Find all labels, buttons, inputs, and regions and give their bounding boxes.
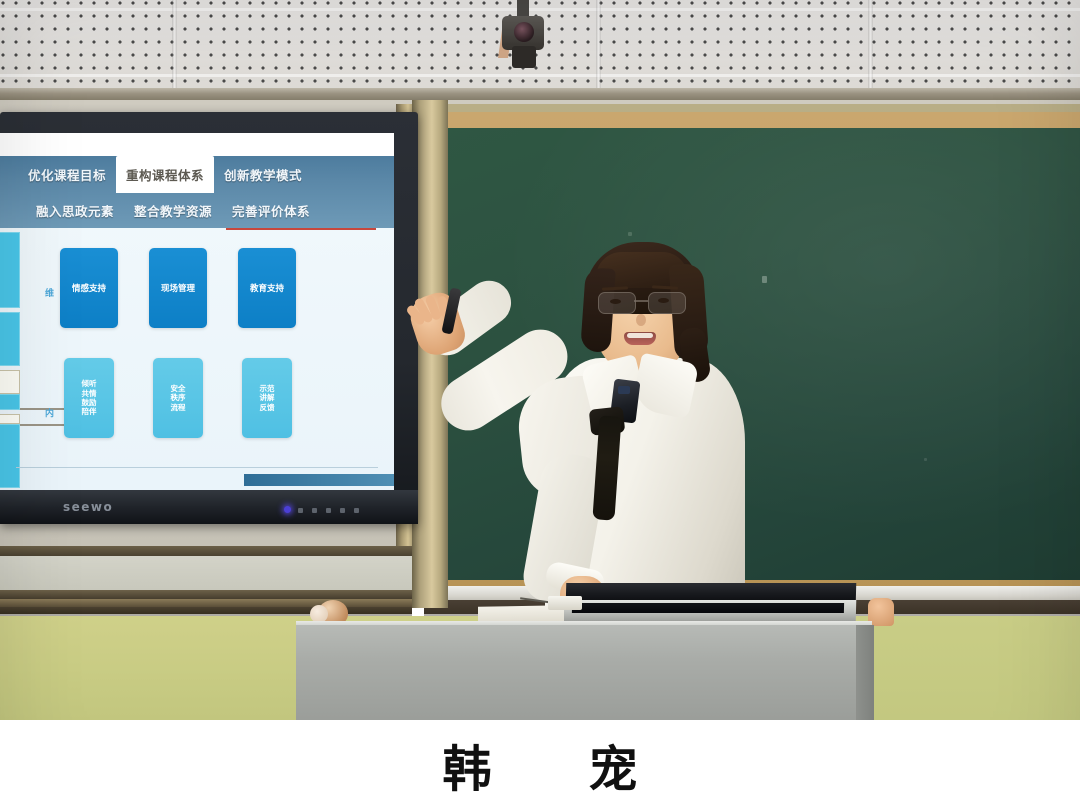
teacher-figure bbox=[400, 240, 800, 640]
slide-subcard-line: 秩序 bbox=[171, 393, 186, 402]
slide-row-label-1: 维 bbox=[45, 286, 54, 299]
lower-wall-right bbox=[860, 616, 1080, 720]
slide-subcard-2[interactable]: 安全 秩序 流程 bbox=[153, 358, 203, 438]
slide-body: 维 内 情感支持 现场管理 教育支持 bbox=[0, 228, 394, 490]
slide-subcard-line: 共情 bbox=[82, 389, 97, 398]
slide-tabrow-1: 优化课程目标 重构课程体系 创新教学模式 bbox=[0, 156, 394, 192]
presentation-slide: 优化课程目标 重构课程体系 创新教学模式 融入思政元素 整合教学资源 完善评价体… bbox=[0, 133, 394, 490]
smartboard-brand-logo: seewo bbox=[63, 500, 113, 514]
slide-divider bbox=[16, 467, 378, 468]
microphone-indicator bbox=[618, 386, 630, 394]
slide-tab-restructure-system[interactable]: 重构课程体系 bbox=[116, 156, 214, 193]
slide-tab-ideological-elements[interactable]: 融入思政元素 bbox=[26, 196, 124, 225]
caption-name: 韩 宠 bbox=[0, 720, 1080, 810]
slide-tab-optimize-goals[interactable]: 优化课程目标 bbox=[18, 160, 116, 189]
slide-subcard-1[interactable]: 倾听 共情 鼓励 陪伴 bbox=[64, 358, 114, 438]
wall-trim-b bbox=[0, 590, 412, 599]
slide-card-label: 情感支持 bbox=[72, 283, 106, 294]
slide-subcard-line: 陪伴 bbox=[82, 407, 97, 416]
slide-subcard-line: 安全 bbox=[171, 384, 186, 393]
slide-subcard-3[interactable]: 示范 讲解 反馈 bbox=[242, 358, 292, 438]
teacher-eye-right bbox=[658, 298, 669, 303]
smartboard-screen[interactable]: 优化课程目标 重构课程体系 创新教学模式 融入思政元素 整合教学资源 完善评价体… bbox=[0, 133, 394, 490]
slide-subcard-line: 鼓励 bbox=[82, 398, 97, 407]
wall-trim-upper bbox=[0, 546, 412, 556]
slide-subcard-line: 反馈 bbox=[260, 403, 275, 412]
slide-tab-improve-evaluation[interactable]: 完善评价体系 bbox=[222, 196, 320, 225]
slide-tabbar: 优化课程目标 重构课程体系 创新教学模式 融入思政元素 整合教学资源 完善评价体… bbox=[0, 156, 394, 228]
slide-footer-bar bbox=[244, 474, 394, 486]
teacher-eye-left bbox=[610, 299, 621, 304]
slide-card-label: 教育支持 bbox=[250, 283, 284, 294]
teacher-teeth bbox=[627, 333, 653, 338]
slide-side-panel bbox=[0, 228, 20, 490]
wall-mid-band bbox=[0, 556, 412, 590]
slide-card-education-support[interactable]: 教育支持 bbox=[238, 248, 296, 328]
slide-row-label-2: 内 bbox=[45, 406, 54, 419]
slide-card-row-2: 倾听 共情 鼓励 陪伴 安全 秩序 流程 bbox=[64, 358, 292, 438]
ceiling-camera-icon bbox=[500, 0, 546, 70]
slide-subcard-line: 示范 bbox=[260, 384, 275, 393]
podium bbox=[296, 625, 872, 723]
slide-subcard-line: 倾听 bbox=[82, 379, 97, 388]
wall-trim-c bbox=[0, 599, 412, 607]
teacher-nose bbox=[636, 314, 646, 326]
desk-object bbox=[548, 596, 582, 610]
slide-tabrow-2: 融入思政元素 整合教学资源 完善评价体系 bbox=[0, 192, 394, 228]
podium-side-panel bbox=[856, 625, 874, 723]
slide-top-margin bbox=[0, 133, 394, 156]
slide-subcard-line: 讲解 bbox=[260, 393, 275, 402]
slide-tab-innovate-teaching[interactable]: 创新教学模式 bbox=[214, 160, 312, 189]
slide-tab-integrate-resources[interactable]: 整合教学资源 bbox=[124, 196, 222, 225]
smartboard-control-keys[interactable] bbox=[298, 507, 368, 513]
slide-card-site-management[interactable]: 现场管理 bbox=[149, 248, 207, 328]
slide-card-emotional-support[interactable]: 情感支持 bbox=[60, 248, 118, 328]
power-led-icon bbox=[284, 506, 291, 513]
slide-card-label: 现场管理 bbox=[161, 283, 195, 294]
screenshot-root: 优化课程目标 重构课程体系 创新教学模式 融入思政元素 整合教学资源 完善评价体… bbox=[0, 0, 1080, 810]
slide-card-row-1: 情感支持 现场管理 教育支持 bbox=[60, 248, 296, 328]
laptop-keyboard[interactable] bbox=[572, 603, 844, 613]
slide-subcard-line: 流程 bbox=[171, 403, 186, 412]
